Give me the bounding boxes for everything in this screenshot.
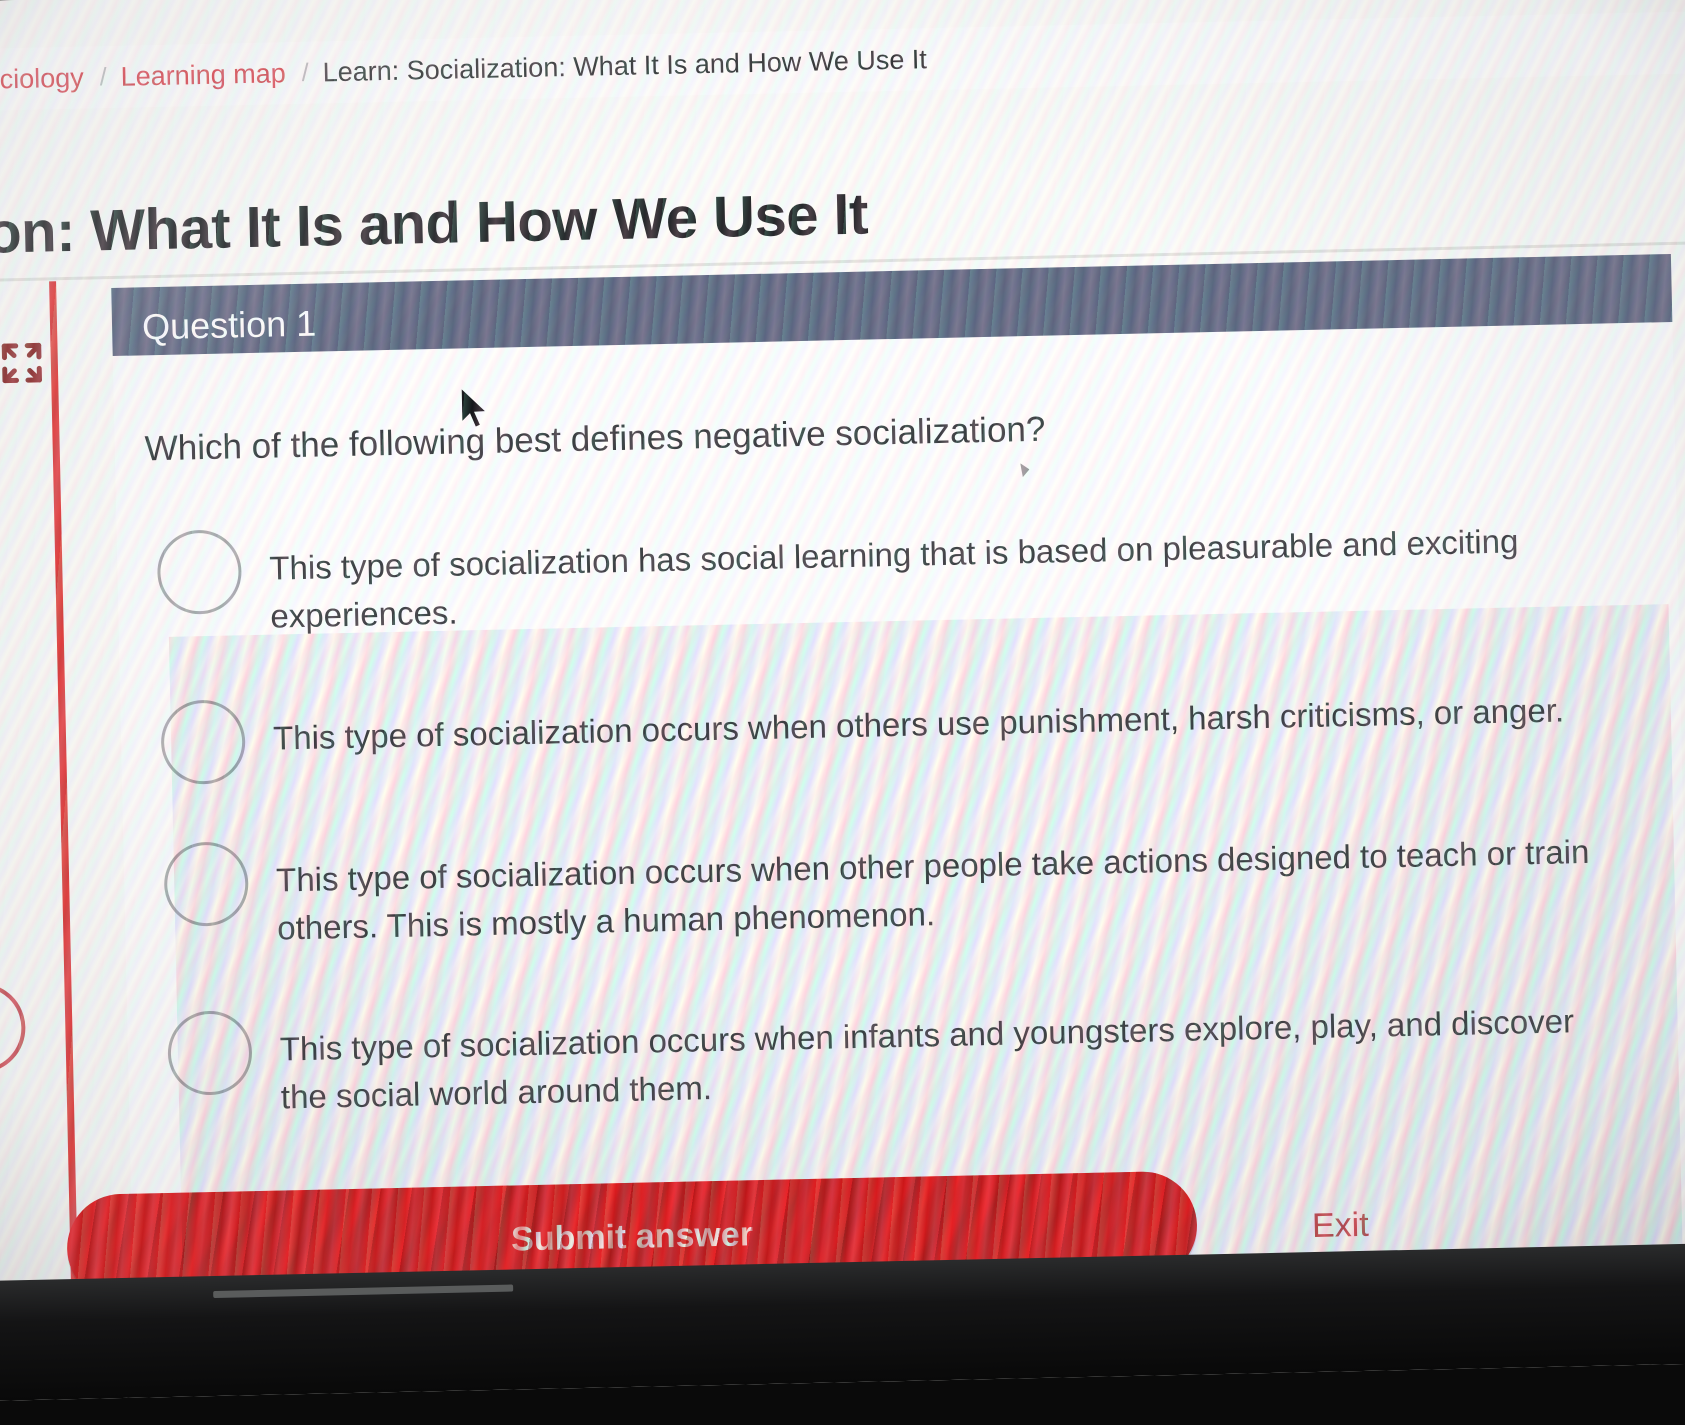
exit-button[interactable]: Exit	[1312, 1206, 1370, 1246]
bezel-notch	[213, 1284, 513, 1298]
screen-content: ociology / Learning map / Learn: Sociali…	[0, 0, 1685, 1331]
radio-button-c[interactable]	[163, 841, 249, 927]
breadcrumb-item-course[interactable]: ociology	[0, 62, 84, 95]
answer-option-c[interactable]: This type of socialization occurs when o…	[163, 805, 1625, 955]
answer-option-b[interactable]: This type of socialization occurs when o…	[160, 663, 1622, 785]
answer-options-list: This type of socialization has social le…	[156, 493, 1630, 1176]
radio-button-d[interactable]	[167, 1011, 253, 1097]
screen-photo: ociology / Learning map / Learn: Sociali…	[0, 0, 1685, 1401]
progress-rail-red	[49, 281, 78, 1291]
answer-option-label: This type of socialization occurs when o…	[272, 664, 1564, 762]
question-prompt: Which of the following best defines nega…	[144, 395, 1545, 473]
progress-step-circle[interactable]	[0, 982, 26, 1074]
expand-fullscreen-icon[interactable]	[0, 339, 45, 386]
question-card: Question 1 Which of the following best d…	[112, 282, 1685, 1296]
answer-option-d[interactable]: This type of socialization occurs when i…	[167, 975, 1629, 1125]
answer-option-label: This type of socialization occurs when o…	[275, 805, 1625, 952]
submit-answer-label: Submit answer	[511, 1215, 754, 1259]
answer-option-label: This type of socialization occurs when i…	[279, 975, 1629, 1122]
radio-button-b[interactable]	[160, 699, 246, 785]
question-card-header: Question 1	[111, 254, 1672, 356]
breadcrumb-separator: /	[99, 63, 107, 92]
answer-option-label: This type of socialization has social le…	[268, 493, 1618, 640]
question-number-label: Question 1	[142, 306, 317, 346]
breadcrumb: ociology / Learning map / Learn: Sociali…	[0, 11, 1685, 111]
breadcrumb-item-current: Learn: Socialization: What It Is and How…	[322, 44, 927, 88]
breadcrumb-separator: /	[301, 58, 309, 87]
breadcrumb-item-learning-map[interactable]: Learning map	[120, 58, 286, 93]
radio-button-a[interactable]	[157, 529, 243, 615]
answer-option-a[interactable]: This type of socialization has social le…	[156, 493, 1618, 643]
